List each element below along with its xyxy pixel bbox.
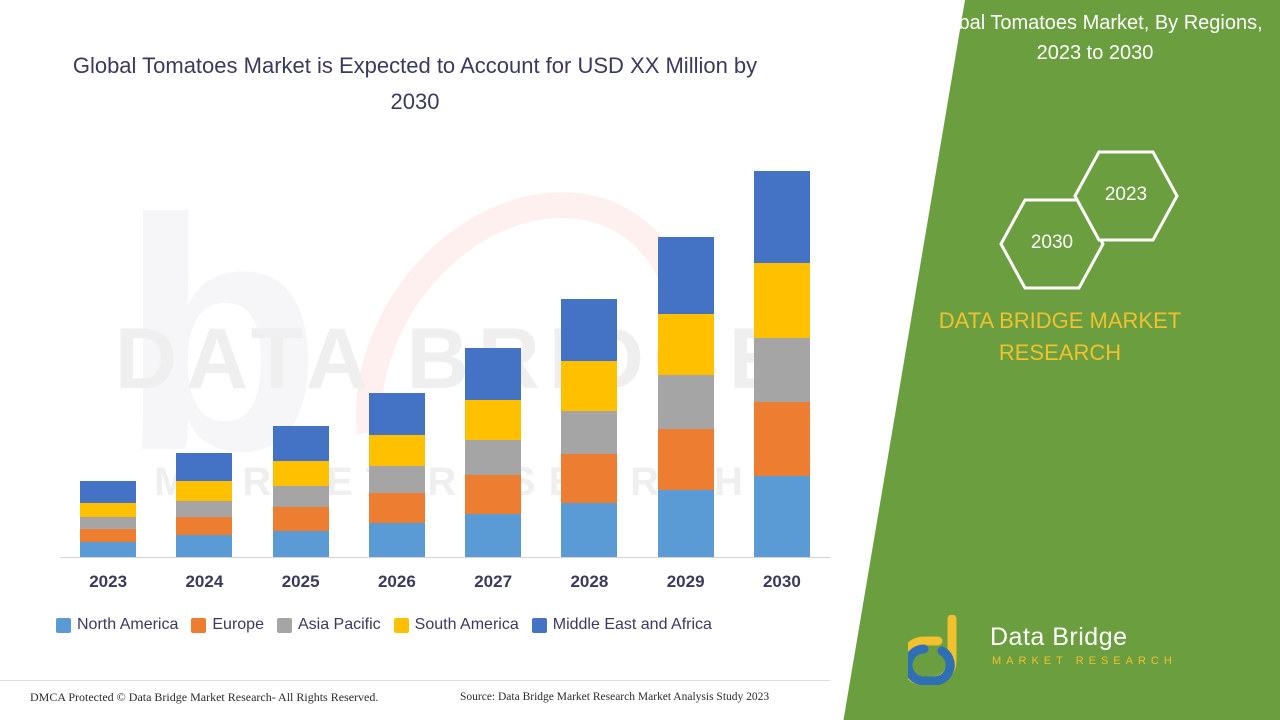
bar-segment: [658, 237, 714, 314]
bar-segment: [176, 481, 232, 500]
bar-segment: [658, 429, 714, 490]
hexagon-2023-label: 2023: [1072, 184, 1180, 206]
bar-segment: [754, 476, 810, 557]
bar-segment: [754, 338, 810, 403]
right-panel: Global Tomatoes Market, By Regions, 2023…: [830, 0, 1280, 720]
footer-source: Source: Data Bridge Market Research Mark…: [460, 691, 769, 703]
bar-segment: [754, 402, 810, 476]
logo-subtitle: MARKET RESEARCH: [992, 655, 1177, 667]
x-axis-label: 2023: [63, 572, 153, 592]
bar-group-2026: [369, 393, 425, 557]
bar-group-2024: [176, 453, 232, 557]
legend-swatch: [532, 618, 547, 633]
bar-segment: [369, 466, 425, 493]
x-axis-label: 2025: [256, 572, 346, 592]
bar-segment: [658, 490, 714, 557]
legend-item-north-america[interactable]: North America: [56, 616, 178, 634]
bar-segment: [658, 375, 714, 429]
bar-segment: [465, 440, 521, 475]
x-axis-label: 2024: [159, 572, 249, 592]
bar-segment: [754, 171, 810, 263]
bar-segment: [273, 531, 329, 557]
bar-group-2030: [754, 171, 810, 557]
panel-title: Global Tomatoes Market, By Regions, 2023…: [925, 8, 1265, 68]
bar-segment: [369, 393, 425, 435]
legend-swatch: [56, 618, 71, 633]
x-axis-line: [60, 557, 830, 558]
hexagon-2023: 2023: [1072, 148, 1180, 244]
legend-label: North America: [77, 616, 178, 634]
x-axis-labels: 20232024202520262027202820292030: [60, 572, 830, 598]
legend-label: Europe: [212, 616, 264, 634]
data-bridge-logo-icon: [908, 615, 978, 685]
brand-name: DATA BRIDGE MARKET RESEARCH: [880, 305, 1240, 369]
legend-swatch: [191, 618, 206, 633]
bar-segment: [561, 411, 617, 454]
bar-segment: [658, 314, 714, 376]
legend-item-asia-pacific[interactable]: Asia Pacific: [277, 616, 381, 634]
footer-copyright: DMCA Protected © Data Bridge Market Rese…: [30, 690, 378, 705]
bar-group-2027: [465, 348, 521, 557]
x-axis-label: 2029: [641, 572, 731, 592]
bar-segment: [465, 475, 521, 514]
infographic-page: b DATA BRIDGE MARKET RESEARCH Global Tom…: [0, 0, 1280, 720]
bar-segment: [561, 361, 617, 411]
chart-title: Global Tomatoes Market is Expected to Ac…: [60, 48, 770, 120]
bar-segment: [465, 514, 521, 557]
bar-group-2025: [273, 426, 329, 557]
legend-label: Middle East and Africa: [553, 616, 712, 634]
hexagon-group: 2030 2023: [980, 148, 1180, 268]
bar-segment: [80, 517, 136, 529]
bar-segment: [561, 299, 617, 362]
x-axis-label: 2027: [448, 572, 538, 592]
bar-segment: [273, 507, 329, 531]
bar-segment: [369, 493, 425, 523]
legend-label: Asia Pacific: [298, 616, 381, 634]
bar-segment: [176, 501, 232, 517]
bar-segment: [465, 400, 521, 440]
bar-segment: [176, 535, 232, 557]
bar-segment: [80, 542, 136, 557]
bar-segment: [465, 348, 521, 400]
bar-segment: [369, 435, 425, 466]
bar-segment: [273, 486, 329, 508]
legend-item-middle-east-and-africa[interactable]: Middle East and Africa: [532, 616, 712, 634]
footer-bar: DMCA Protected © Data Bridge Market Rese…: [0, 680, 830, 720]
bar-group-2029: [658, 237, 714, 557]
stacked-bar-chart: [60, 160, 830, 558]
bar-segment: [80, 503, 136, 517]
legend-item-south-america[interactable]: South America: [394, 616, 519, 634]
x-axis-label: 2028: [544, 572, 634, 592]
bar-segment: [80, 481, 136, 503]
bar-segment: [176, 517, 232, 535]
bar-segment: [754, 263, 810, 338]
legend-swatch: [394, 618, 409, 633]
legend-swatch: [277, 618, 292, 633]
bar-group-2023: [80, 481, 136, 557]
bar-segment: [561, 454, 617, 503]
legend-label: South America: [415, 616, 519, 634]
x-axis-label: 2026: [352, 572, 442, 592]
bar-segment: [369, 523, 425, 557]
bar-group-2028: [561, 299, 617, 557]
chart-legend: North AmericaEuropeAsia PacificSouth Ame…: [56, 616, 836, 634]
bar-segment: [273, 461, 329, 486]
bar-segment: [273, 426, 329, 461]
bar-segment: [80, 529, 136, 542]
bar-segment: [561, 503, 617, 557]
x-axis-label: 2030: [737, 572, 827, 592]
logo-wordmark: Data Bridge: [990, 623, 1128, 652]
logo-block: Data Bridge MARKET RESEARCH: [890, 615, 1250, 690]
bar-segment: [176, 453, 232, 481]
legend-item-europe[interactable]: Europe: [191, 616, 264, 634]
